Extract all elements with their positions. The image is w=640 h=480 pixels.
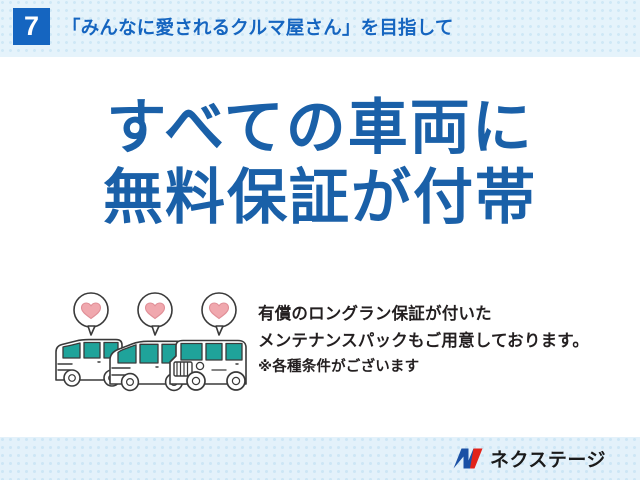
body-note: ※各種条件がございます <box>258 356 638 380</box>
brand-name: ネクステージ <box>490 445 606 472</box>
promo-banner: 7 「みんなに愛されるクルマ屋さん」を目指して すべての車両に 無料保証が付帯 <box>0 0 640 480</box>
body-line-2: メンテナンスパックもご用意しております。 <box>258 328 638 355</box>
headline: すべての車両に 無料保証が付帯 <box>0 96 640 231</box>
headline-line-2: 無料保証が付帯 <box>0 166 640 231</box>
header-title: 「みんなに愛されるクルマ屋さん」を目指して <box>62 14 454 40</box>
section-number-badge: 7 <box>13 8 50 45</box>
heart-bubble-3 <box>202 293 236 335</box>
heart-bubble-2 <box>138 293 172 335</box>
nextage-n-logo-icon <box>453 448 483 469</box>
header-inner: 7 「みんなに愛されるクルマ屋さん」を目指して <box>0 0 640 53</box>
heart-bubble-1 <box>74 293 108 335</box>
header-band: 7 「みんなに愛されるクルマ屋さん」を目指して <box>0 0 640 57</box>
body-text-block: 有償のロングラン保証が付いた メンテナンスパックもご用意しております。 ※各種条… <box>258 301 638 380</box>
headline-line-1: すべての車両に <box>0 96 640 161</box>
body-line-1: 有償のロングラン保証が付いた <box>258 301 638 328</box>
cars-illustration <box>50 292 255 392</box>
cars-illustration-svg <box>50 292 255 392</box>
footer-band: ネクステージ <box>0 437 640 480</box>
car-suv-jeep <box>170 341 246 391</box>
content-row: 有償のロングラン保証が付いた メンテナンスパックもご用意しております。 ※各種条… <box>0 292 640 397</box>
brand-logo: ネクステージ <box>453 437 606 480</box>
